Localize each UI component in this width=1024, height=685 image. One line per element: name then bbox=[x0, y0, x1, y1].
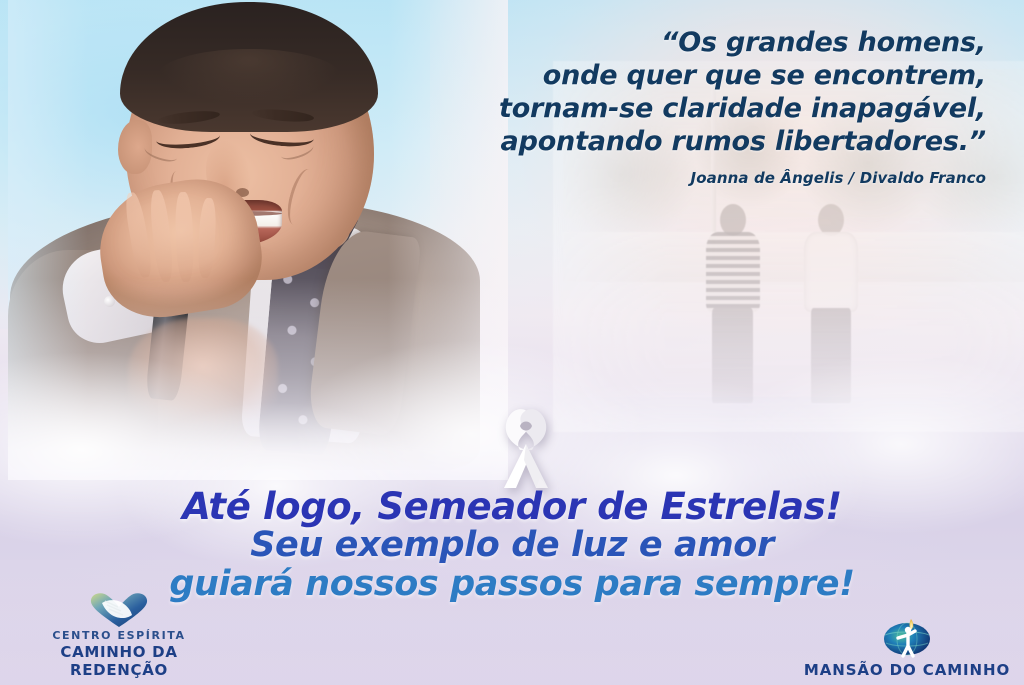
memorial-poster: “Os grandes homens, onde quer que se enc… bbox=[0, 0, 1024, 685]
quote-line-1: “Os grandes homens, bbox=[426, 26, 986, 59]
logo-left-line-1: CENTRO ESPÍRITA bbox=[14, 629, 224, 643]
portrait-hair bbox=[120, 2, 378, 132]
logo-right-line-1: MANSÃO DO CAMINHO bbox=[802, 661, 1012, 679]
quote-author: Joanna de Ângelis / Divaldo Franco bbox=[426, 169, 986, 187]
headline-block: Até logo, Semeador de Estrelas! Seu exem… bbox=[0, 487, 1024, 604]
quote-line-4: apontando rumos libertadores.” bbox=[426, 125, 986, 158]
white-ribbon-icon bbox=[486, 404, 566, 490]
globe-figure-torch-logo-icon bbox=[878, 613, 936, 659]
headline-line-1: Até logo, Semeador de Estrelas! bbox=[0, 487, 1024, 526]
white-ribbon-svg bbox=[486, 404, 566, 490]
quote-line-3: tornam-se claridade inapagável, bbox=[426, 92, 986, 125]
headline-line-2: Seu exemplo de luz e amor bbox=[0, 526, 1024, 565]
heart-hand-logo-icon bbox=[88, 591, 150, 629]
logo-mansao-do-caminho: MANSÃO DO CAMINHO bbox=[802, 613, 1012, 679]
logo-centro-espirita: CENTRO ESPÍRITA CAMINHO DA REDENÇÃO bbox=[14, 591, 224, 679]
quote-block: “Os grandes homens, onde quer que se enc… bbox=[426, 26, 986, 187]
quote-line-2: onde quer que se encontrem, bbox=[426, 59, 986, 92]
portrait-hand-holding-microphone bbox=[128, 318, 278, 438]
portrait-photo bbox=[8, 0, 488, 470]
logo-left-line-2: CAMINHO DA REDENÇÃO bbox=[14, 643, 224, 679]
